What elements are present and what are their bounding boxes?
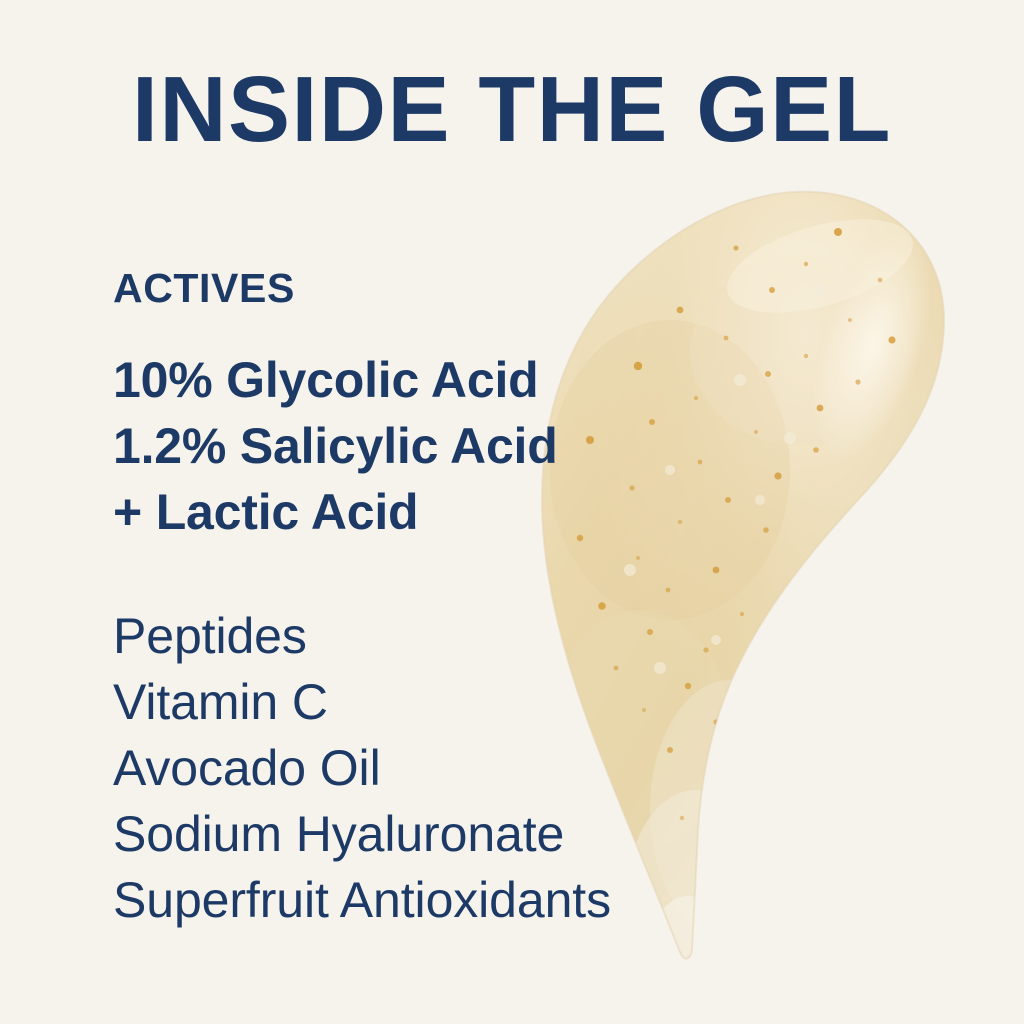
list-item: Avocado Oil bbox=[113, 735, 733, 801]
list-item: + Lactic Acid bbox=[113, 479, 733, 545]
list-item: 1.2% Salicylic Acid bbox=[113, 413, 733, 479]
list-item: Sodium Hyaluronate bbox=[113, 801, 733, 867]
section-spacer bbox=[113, 545, 733, 603]
product-ingredients-poster: INSIDE THE GEL bbox=[0, 0, 1024, 1024]
list-item: Peptides bbox=[113, 603, 733, 669]
actives-list: 10% Glycolic Acid 1.2% Salicylic Acid + … bbox=[113, 347, 733, 545]
page-title: INSIDE THE GEL bbox=[0, 62, 1024, 157]
list-item: Superfruit Antioxidants bbox=[113, 867, 733, 933]
list-item: Vitamin C bbox=[113, 669, 733, 735]
ingredients-text-column: ACTIVES 10% Glycolic Acid 1.2% Salicylic… bbox=[113, 268, 733, 933]
list-item: 10% Glycolic Acid bbox=[113, 347, 733, 413]
actives-heading: ACTIVES bbox=[113, 268, 733, 309]
ingredients-list: Peptides Vitamin C Avocado Oil Sodium Hy… bbox=[113, 603, 733, 933]
